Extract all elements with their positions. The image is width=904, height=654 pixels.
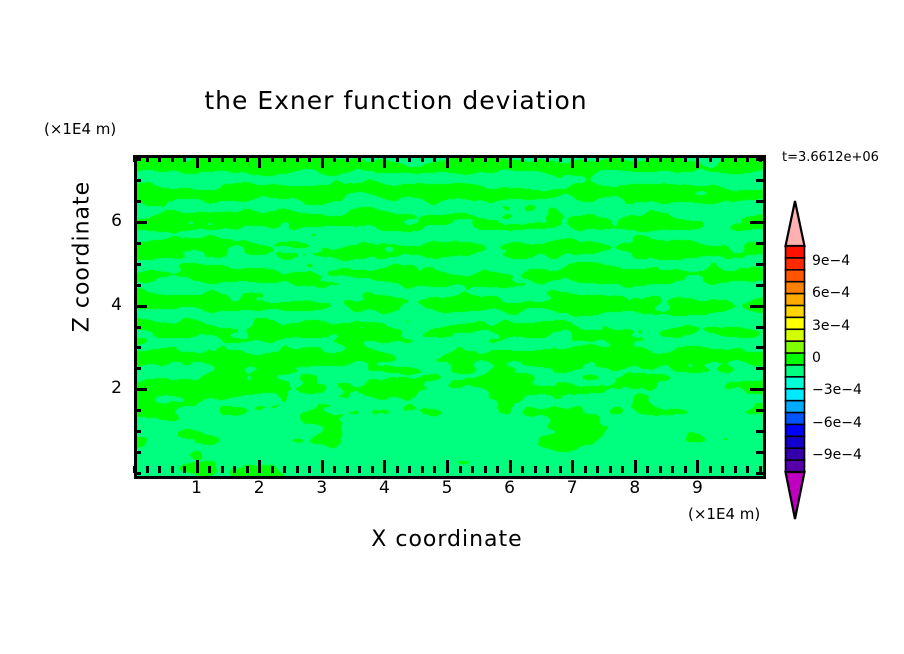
x-tick-label: 1 <box>182 478 212 498</box>
y-tick-minor <box>134 472 141 475</box>
y-tick-label: 4 <box>92 295 122 315</box>
colorbar-tick-label: −3e−4 <box>812 382 862 398</box>
x-tick-major <box>696 155 699 168</box>
x-tick-minor <box>671 155 674 162</box>
x-tick-minor <box>158 466 161 473</box>
x-tick-minor <box>721 155 724 162</box>
colorbar-band <box>786 329 805 341</box>
x-tick-minor <box>333 155 336 162</box>
x-tick-label: 9 <box>682 478 712 498</box>
y-tick-minor <box>134 451 141 454</box>
x-tick-minor <box>221 155 224 162</box>
x-tick-minor <box>734 466 737 473</box>
x-tick-minor <box>146 466 149 473</box>
colorbar-band <box>786 353 805 365</box>
x-tick-minor <box>371 155 374 162</box>
colorbar-tick-label: 6e−4 <box>812 285 850 301</box>
y-tick-minor <box>756 367 763 370</box>
x-tick-minor <box>396 466 399 473</box>
y-tick-major <box>134 221 147 224</box>
colorbar-band <box>786 377 805 389</box>
x-tick-major <box>571 460 574 473</box>
x-tick-label: 4 <box>369 478 399 498</box>
x-tick-label: 3 <box>307 478 337 498</box>
colorbar-band <box>786 365 805 377</box>
y-tick-minor <box>756 242 763 245</box>
y-tick-minor <box>756 430 763 433</box>
x-tick-minor <box>171 155 174 162</box>
x-tick-major <box>321 155 324 168</box>
x-tick-major <box>383 155 386 168</box>
x-tick-minor <box>233 466 236 473</box>
colorbar-band <box>786 246 805 258</box>
x-tick-minor <box>521 155 524 162</box>
x-tick-minor <box>596 155 599 162</box>
x-tick-minor <box>346 466 349 473</box>
x-tick-minor <box>308 155 311 162</box>
colorbar-band <box>786 258 805 270</box>
x-tick-minor <box>396 155 399 162</box>
x-tick-minor <box>208 155 211 162</box>
y-tick-minor <box>134 200 141 203</box>
y-axis-title: Z coordinate <box>70 147 95 367</box>
colorbar-gradient <box>784 200 806 520</box>
x-tick-minor <box>496 466 499 473</box>
x-tick-major <box>446 155 449 168</box>
y-tick-minor <box>756 200 763 203</box>
colorbar-band <box>786 401 805 413</box>
time-annotation: t=3.6612e+06 <box>782 150 879 165</box>
x-tick-major <box>634 155 637 168</box>
y-tick-minor <box>134 242 141 245</box>
x-tick-minor <box>684 466 687 473</box>
colorbar-tick-label: −6e−4 <box>812 415 862 431</box>
x-tick-minor <box>296 466 299 473</box>
x-tick-minor <box>308 466 311 473</box>
x-tick-minor <box>559 155 562 162</box>
x-tick-major <box>509 460 512 473</box>
y-tick-minor <box>134 179 141 182</box>
x-tick-minor <box>421 466 424 473</box>
x-tick-minor <box>559 466 562 473</box>
x-tick-label: 8 <box>620 478 650 498</box>
x-tick-minor <box>208 466 211 473</box>
y-tick-minor <box>756 472 763 475</box>
x-tick-major <box>321 460 324 473</box>
x-tick-minor <box>471 466 474 473</box>
colorbar-band <box>786 424 805 436</box>
x-tick-minor <box>659 155 662 162</box>
x-tick-minor <box>183 466 186 473</box>
x-tick-major <box>571 155 574 168</box>
x-tick-minor <box>183 155 186 162</box>
colorbar-band <box>786 436 805 448</box>
x-tick-minor <box>734 155 737 162</box>
x-tick-minor <box>246 466 249 473</box>
x-tick-minor <box>709 466 712 473</box>
x-tick-minor <box>459 155 462 162</box>
x-tick-label: 7 <box>557 478 587 498</box>
y-tick-major <box>750 388 763 391</box>
y-tick-major <box>750 221 763 224</box>
y-axis-units-label: (×1E4 m) <box>44 120 116 138</box>
y-tick-minor <box>756 326 763 329</box>
x-tick-minor <box>534 155 537 162</box>
y-tick-minor <box>134 326 141 329</box>
x-tick-minor <box>271 155 274 162</box>
colorbar-band <box>786 341 805 353</box>
x-tick-minor <box>584 155 587 162</box>
colorbar-tick-label: 3e−4 <box>812 318 850 334</box>
x-tick-minor <box>646 466 649 473</box>
colorbar-band <box>786 305 805 317</box>
x-tick-minor <box>471 155 474 162</box>
colorbar-band <box>786 389 805 401</box>
x-tick-minor <box>408 155 411 162</box>
x-tick-minor <box>171 466 174 473</box>
x-tick-minor <box>746 155 749 162</box>
x-tick-major <box>196 460 199 473</box>
y-tick-minor <box>134 158 141 161</box>
y-tick-major <box>134 388 147 391</box>
y-tick-minor <box>134 367 141 370</box>
x-tick-minor <box>721 466 724 473</box>
x-tick-minor <box>496 155 499 162</box>
x-tick-minor <box>671 466 674 473</box>
colorbar-tick-label: 9e−4 <box>812 253 850 269</box>
x-tick-minor <box>246 155 249 162</box>
y-tick-label: 2 <box>92 378 122 398</box>
y-tick-major <box>134 305 147 308</box>
contour-field-canvas <box>137 158 763 476</box>
x-tick-major <box>258 155 261 168</box>
x-tick-minor <box>521 466 524 473</box>
x-tick-minor <box>584 466 587 473</box>
x-tick-minor <box>709 155 712 162</box>
x-tick-minor <box>646 155 649 162</box>
y-tick-minor <box>134 263 141 266</box>
x-tick-major <box>634 460 637 473</box>
x-tick-minor <box>534 466 537 473</box>
colorbar <box>784 200 806 520</box>
x-tick-minor <box>283 155 286 162</box>
y-tick-minor <box>756 263 763 266</box>
y-tick-minor <box>756 409 763 412</box>
x-tick-minor <box>609 155 612 162</box>
x-tick-minor <box>484 155 487 162</box>
x-tick-minor <box>296 155 299 162</box>
y-tick-minor <box>134 409 141 412</box>
plot-area <box>134 155 766 479</box>
x-axis-title: X coordinate <box>134 527 760 552</box>
y-tick-minor <box>756 451 763 454</box>
x-tick-minor <box>659 466 662 473</box>
x-tick-minor <box>283 466 286 473</box>
x-tick-minor <box>371 466 374 473</box>
x-tick-label: 6 <box>495 478 525 498</box>
colorbar-band <box>786 413 805 425</box>
x-tick-major <box>446 460 449 473</box>
colorbar-band <box>786 294 805 306</box>
colorbar-band <box>786 270 805 282</box>
colorbar-over-cap <box>786 201 805 246</box>
x-tick-major <box>196 155 199 168</box>
colorbar-under-cap <box>786 472 805 519</box>
x-tick-minor <box>158 155 161 162</box>
x-tick-minor <box>333 466 336 473</box>
x-tick-minor <box>146 155 149 162</box>
x-tick-minor <box>684 155 687 162</box>
x-tick-minor <box>546 466 549 473</box>
y-tick-minor <box>756 158 763 161</box>
x-tick-minor <box>596 466 599 473</box>
y-tick-label: 6 <box>92 211 122 231</box>
x-tick-minor <box>546 155 549 162</box>
y-tick-major <box>750 305 763 308</box>
y-tick-minor <box>134 284 141 287</box>
x-tick-minor <box>233 155 236 162</box>
x-tick-minor <box>746 466 749 473</box>
x-tick-minor <box>346 155 349 162</box>
x-tick-minor <box>609 466 612 473</box>
x-tick-minor <box>408 466 411 473</box>
y-tick-minor <box>756 179 763 182</box>
x-tick-minor <box>221 466 224 473</box>
page-title: the Exner function deviation <box>0 86 848 115</box>
x-tick-minor <box>459 466 462 473</box>
x-tick-major <box>383 460 386 473</box>
x-tick-major <box>696 460 699 473</box>
x-tick-minor <box>271 466 274 473</box>
x-tick-minor <box>433 155 436 162</box>
colorbar-band <box>786 448 805 460</box>
x-tick-minor <box>358 155 361 162</box>
contour-plot-figure: the Exner function deviation (×1E4 m) t=… <box>0 0 904 654</box>
colorbar-band <box>786 460 805 472</box>
x-tick-major <box>258 460 261 473</box>
x-tick-label: 2 <box>244 478 274 498</box>
x-tick-major <box>509 155 512 168</box>
x-tick-minor <box>433 466 436 473</box>
colorbar-band <box>786 317 805 329</box>
x-tick-minor <box>358 466 361 473</box>
x-axis-units-label: (×1E4 m) <box>688 505 760 523</box>
colorbar-band <box>786 282 805 294</box>
y-tick-minor <box>756 346 763 349</box>
y-tick-minor <box>134 346 141 349</box>
y-tick-minor <box>134 430 141 433</box>
x-tick-minor <box>421 155 424 162</box>
colorbar-tick-label: −9e−4 <box>812 447 862 463</box>
colorbar-tick-label: 0 <box>812 350 821 366</box>
x-tick-label: 5 <box>432 478 462 498</box>
x-tick-minor <box>621 466 624 473</box>
y-tick-minor <box>756 284 763 287</box>
x-tick-minor <box>484 466 487 473</box>
x-tick-minor <box>621 155 624 162</box>
